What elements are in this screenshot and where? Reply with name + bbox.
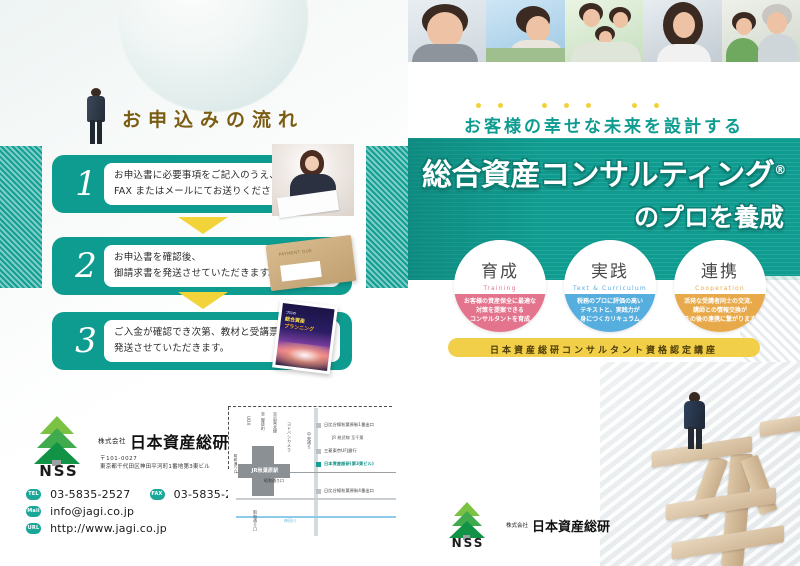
flow-arrow-1-icon xyxy=(178,217,228,234)
contact-row-tel-fax: TEL 03-5835-2527 FAX 03-5835-2536 xyxy=(26,484,256,501)
feature-2-line2: テキストと、実践力が xyxy=(564,306,656,315)
fax-icon: FAX xyxy=(150,489,165,500)
map-legend: 日比谷線秋葉原駅1番出口 JR 総武線 至千葉 三菱東京UFJ銀行 日本資産総研… xyxy=(316,422,402,501)
map-label-keihin: 至 御徒町 xyxy=(260,412,266,431)
feature-circle-training: 育成 Training お客様の資産保全に最適な 対策を提案できる コンサルタン… xyxy=(454,240,546,332)
mail-icon: Mail xyxy=(26,506,41,517)
feature-1-jp: 育成 xyxy=(481,263,519,282)
course-name-banner: 日本資産総研コンサルタント資格認定講座 xyxy=(448,338,760,357)
email-address[interactable]: info@jagi.co.jp xyxy=(50,505,134,518)
footer-company-kk: 株式会社 xyxy=(506,521,528,529)
map-label-kyobashi: 京浜東北線 xyxy=(272,412,278,434)
map-label-showa-vertical: 昭和通り口 xyxy=(252,510,258,532)
emphasis-dots xyxy=(432,103,772,109)
flow-section-title: お申込みの流れ xyxy=(122,105,304,132)
company-name: 日本資産総研 xyxy=(130,429,229,453)
company-zip: 〒101-0027 xyxy=(100,454,137,462)
company-kk-prefix: 株式会社 xyxy=(98,435,126,445)
feature-1-line2: 対策を提案できる xyxy=(454,306,546,315)
map-legend-hibiya1: 日比谷線秋葉原駅1番出口 xyxy=(316,422,402,435)
map-rail-line-vertical xyxy=(228,407,229,469)
brochure-page: お申込みの流れ 1 お申込書に必要事項をご記入のうえ、 FAX またはメールにて… xyxy=(0,0,800,566)
feature-3-line3: その後の連携に繋がります xyxy=(674,315,766,324)
map-label-yodobashi: ヨドバシカメラ xyxy=(286,422,292,452)
access-map: JR秋葉原駅 UDX 至 御徒町 京浜東北線 ヨドバシカメラ 中央通り 昭和通り… xyxy=(228,406,404,538)
company-address: 東京都千代田区神田平河町1番地第3東ビル xyxy=(100,462,210,470)
footer-nss-logo-text: NSS xyxy=(440,536,496,550)
feature-3-line2: 講師との情報交換が xyxy=(674,306,766,315)
hero-photo-man-outdoors xyxy=(486,0,564,62)
step-3-number: 3 xyxy=(66,320,106,362)
feature-2-jp: 実践 xyxy=(591,263,629,282)
map-label-showa-side: 昭和通り口 xyxy=(234,454,239,474)
map-legend-hibiya4: 日比谷線秋葉原駅4番出口 xyxy=(316,488,402,501)
map-legend-destination: 日本資産総研(第3東ビル) xyxy=(316,461,402,474)
map-legend-hibiya4-text: 日比谷線秋葉原駅4番出口 xyxy=(324,488,374,493)
main-title-line1-text: 総合資産コンサルティング xyxy=(422,158,774,193)
step-2-number: 2 xyxy=(66,245,106,287)
feature-circle-cooperation: 連携 Cooperation 活発な受講者同士の交流、 講師との情報交換が その… xyxy=(674,240,766,332)
main-title: 総合資産コンサルティング® のプロを養成 xyxy=(422,150,792,234)
main-title-line2: のプロを養成 xyxy=(422,198,792,234)
businessman-on-yen-figurine xyxy=(682,392,708,450)
map-legend-sobu: JR 総武線 至千葉 xyxy=(316,435,402,448)
decorative-sphere xyxy=(118,0,308,112)
url-icon: URL xyxy=(26,523,41,534)
hero-photo-family xyxy=(565,0,643,62)
map-label-kanda-river: 神田川 xyxy=(284,518,296,524)
registered-mark: ® xyxy=(774,163,786,177)
hero-photo-businessman xyxy=(408,0,486,62)
feature-3-en: Cooperation xyxy=(695,285,745,292)
nss-logo-text: NSS xyxy=(26,462,92,480)
textbook-booklet-photo: プロの 総合資産 プランニング xyxy=(272,300,338,375)
feature-circle-curriculum: 実践 Text & Curriculum 税務のプロに評価の高い テキストと、実… xyxy=(564,240,656,332)
feature-1-line3: コンサルタントを育成 xyxy=(454,315,546,324)
tel-icon: TEL xyxy=(26,489,41,500)
hero-photo-strip xyxy=(408,0,800,62)
hero-photo-woman xyxy=(643,0,721,62)
yen-blocks-photo xyxy=(600,362,800,566)
map-label-showa-exit: 昭和通り口 xyxy=(264,478,284,484)
footer-company-logo: NSS 株式会社 日本資産総研 xyxy=(428,500,608,552)
booklet-title2: プランニング xyxy=(284,323,315,333)
feature-3-line1: 活発な受講者同士の交流、 xyxy=(674,297,766,306)
nss-tree-logo-icon: NSS xyxy=(26,414,92,476)
consultant-woman-photo xyxy=(272,144,354,216)
contact-row-mail: Mail info@jagi.co.jp xyxy=(26,501,256,518)
map-legend-bank-text: 三菱東京UFJ銀行 xyxy=(324,448,357,453)
map-legend-bank: 三菱東京UFJ銀行 xyxy=(316,448,402,461)
contact-list: TEL 03-5835-2527 FAX 03-5835-2536 Mail i… xyxy=(26,484,256,535)
step-1-number: 1 xyxy=(66,163,106,205)
map-rail-line-horizontal xyxy=(228,406,392,407)
flow-arrow-2-icon xyxy=(178,292,228,309)
feature-circles: 育成 Training お客様の資産保全に最適な 対策を提案できる コンサルタン… xyxy=(408,240,800,332)
map-legend-sobu-text: JR 総武線 至千葉 xyxy=(332,435,364,440)
contact-row-url: URL http://www.jagi.co.jp xyxy=(26,518,256,535)
map-station-label: JR秋葉原駅 xyxy=(240,466,290,476)
envelope-stamp-text: PAYMENT DUE xyxy=(278,248,312,257)
map-label-chuo-dori: 中央通り xyxy=(306,432,312,449)
footer-company-name: 日本資産総研 xyxy=(532,516,610,535)
main-title-line1: 総合資産コンサルティング® xyxy=(422,150,792,194)
course-name-text: 日本資産総研コンサルタント資格認定講座 xyxy=(490,346,718,356)
feature-2-en: Text & Curriculum xyxy=(573,285,647,292)
stripe-decoration-left xyxy=(0,146,42,288)
feature-2-line3: 身につくカリキュラム xyxy=(564,315,656,324)
map-kanda-river xyxy=(236,516,396,518)
feature-2-line1: 税務のプロに評価の高い xyxy=(564,297,656,306)
map-legend-hibiya1-text: 日比谷線秋葉原駅1番出口 xyxy=(324,422,374,427)
feature-1-en: Training xyxy=(483,285,516,292)
stripe-decoration-right xyxy=(366,146,408,288)
businessman-figurine-photo xyxy=(85,88,107,146)
map-legend-destination-text: 日本資産総研(第3東ビル) xyxy=(324,461,374,466)
feature-1-line1: お客様の資産保全に最適な xyxy=(454,297,546,306)
tel-number: 03-5835-2527 xyxy=(50,488,130,501)
tagline-text: お客様の幸せな未来を設計する xyxy=(408,112,800,137)
hero-photo-senior-couple xyxy=(722,0,800,62)
map-label-udx: UDX xyxy=(246,416,251,426)
website-url[interactable]: http://www.jagi.co.jp xyxy=(50,522,167,535)
feature-3-jp: 連携 xyxy=(701,263,739,282)
